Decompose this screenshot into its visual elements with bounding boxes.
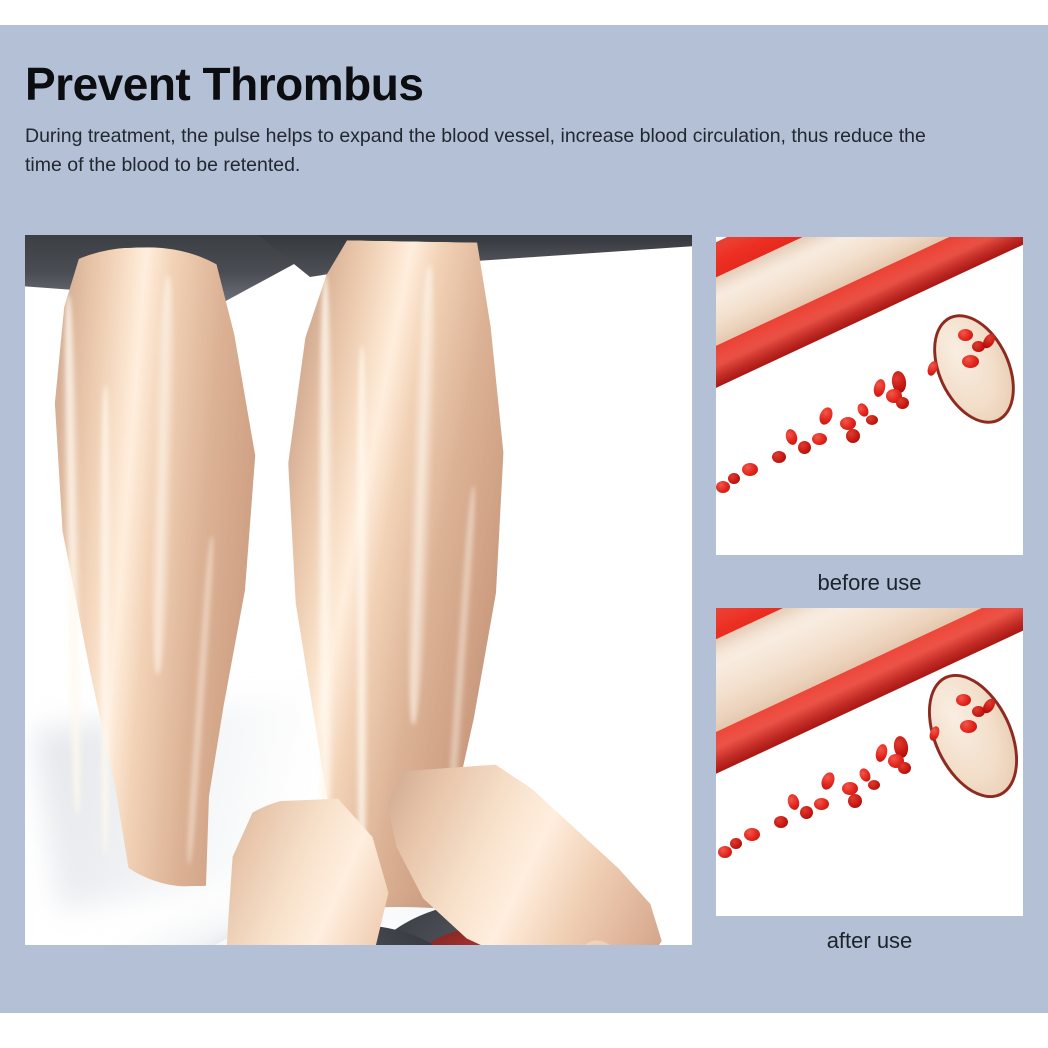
header-description: During treatment, the pulse helps to exp…	[25, 122, 955, 179]
red-blood-cell	[786, 793, 801, 811]
page-title: Prevent Thrombus	[25, 60, 965, 108]
red-blood-cell	[866, 415, 878, 425]
red-blood-cell	[744, 828, 760, 841]
caption-before-use: before use	[716, 570, 1023, 596]
red-blood-cell	[774, 816, 788, 828]
red-blood-cell	[874, 743, 889, 763]
leg-highlight-streak	[99, 385, 112, 856]
vessel-cut-end	[910, 660, 1023, 813]
red-blood-cell	[962, 355, 979, 368]
main-product-image: CELLUPEX	[25, 235, 692, 945]
red-blood-cell	[960, 720, 977, 733]
red-blood-cell	[784, 428, 799, 446]
red-blood-cell	[728, 473, 740, 484]
red-blood-cell	[896, 397, 909, 409]
red-blood-cell	[958, 329, 973, 341]
red-blood-cell	[800, 806, 813, 819]
leg-highlight-streak	[355, 345, 369, 885]
red-blood-cell	[798, 441, 811, 454]
blood-vessel-before-scene	[716, 237, 1023, 555]
red-blood-cell	[872, 378, 887, 398]
red-blood-cell	[716, 481, 730, 493]
leg-highlight-streak	[317, 275, 334, 876]
red-blood-cell	[846, 429, 860, 443]
foot-massager-scene: CELLUPEX	[25, 235, 692, 945]
red-blood-cell	[956, 694, 971, 706]
red-blood-cell	[817, 405, 835, 426]
prevent-thrombus-infographic: Prevent Thrombus During treatment, the p…	[0, 0, 1048, 1048]
red-blood-cell	[898, 762, 911, 774]
red-blood-cell	[772, 451, 786, 463]
red-blood-cell	[742, 463, 758, 476]
red-blood-cell	[868, 780, 880, 790]
before-use-image	[716, 237, 1023, 555]
red-blood-cell	[814, 798, 829, 810]
red-blood-cell	[718, 846, 732, 858]
red-blood-cell	[812, 433, 827, 445]
red-blood-cell	[730, 838, 742, 849]
header: Prevent Thrombus During treatment, the p…	[25, 60, 965, 179]
after-use-image	[716, 608, 1023, 916]
red-blood-cell	[819, 770, 837, 791]
caption-after-use: after use	[716, 928, 1023, 954]
red-blood-cell	[848, 794, 862, 808]
blood-vessel-after-scene	[716, 608, 1023, 916]
